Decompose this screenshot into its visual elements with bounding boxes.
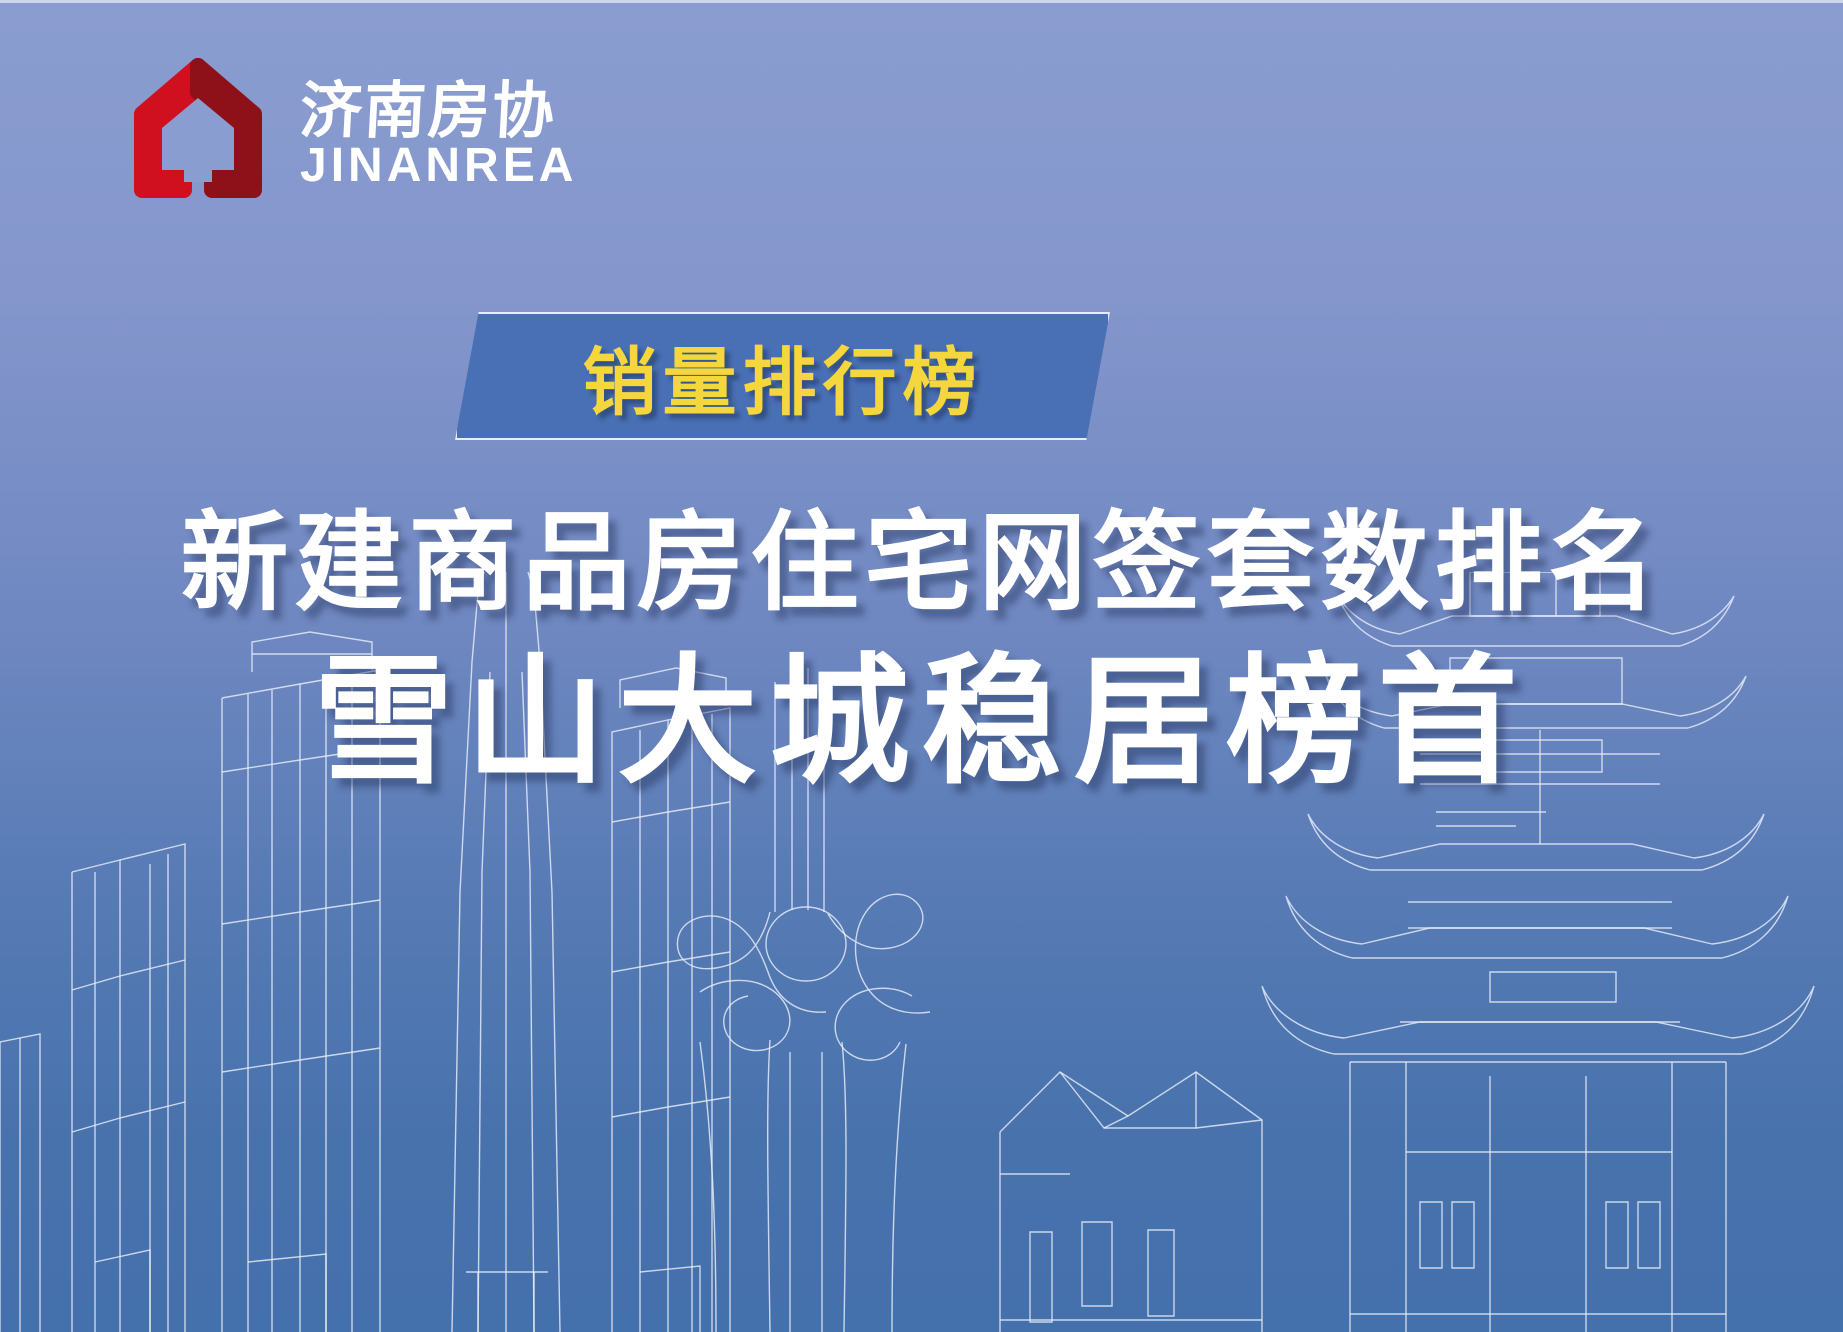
headline-line-1: 新建商品房住宅网签套数排名 (0, 500, 1843, 627)
headline-line-2: 雪山大城稳居榜首 (0, 637, 1843, 808)
sales-ranking-banner: 销量排行榜 (455, 312, 1110, 440)
spire-tower-shape (452, 572, 560, 1332)
stepped-tower-right-shape (612, 668, 730, 1332)
tiered-pagoda-shape (1262, 572, 1814, 1332)
poster-canvas: 济南房协 JINANREA 销量排行榜 新建商品房住宅网签套数排名 雪山大城稳居… (0, 0, 1843, 1332)
modern-angular-hall-shape (1000, 1072, 1262, 1332)
jinanrea-logo[interactable]: 济南房协 JINANREA (118, 58, 577, 198)
city-skyline-line-art (0, 572, 1843, 1332)
logo-english-name: JINANREA (300, 142, 577, 190)
ribbon-sculpture-tower-shape (677, 668, 930, 1332)
headline-block: 新建商品房住宅网签套数排名 雪山大城稳居榜首 (0, 500, 1843, 808)
logo-chinese-name: 济南房协 (298, 82, 578, 141)
far-left-slab-shape (0, 1034, 40, 1332)
house-pentagon-icon (118, 58, 278, 198)
twin-stepped-tower-shape (222, 632, 380, 1332)
banner-label: 销量排行榜 (455, 312, 1110, 440)
stepped-office-tower-shape (72, 844, 185, 1332)
